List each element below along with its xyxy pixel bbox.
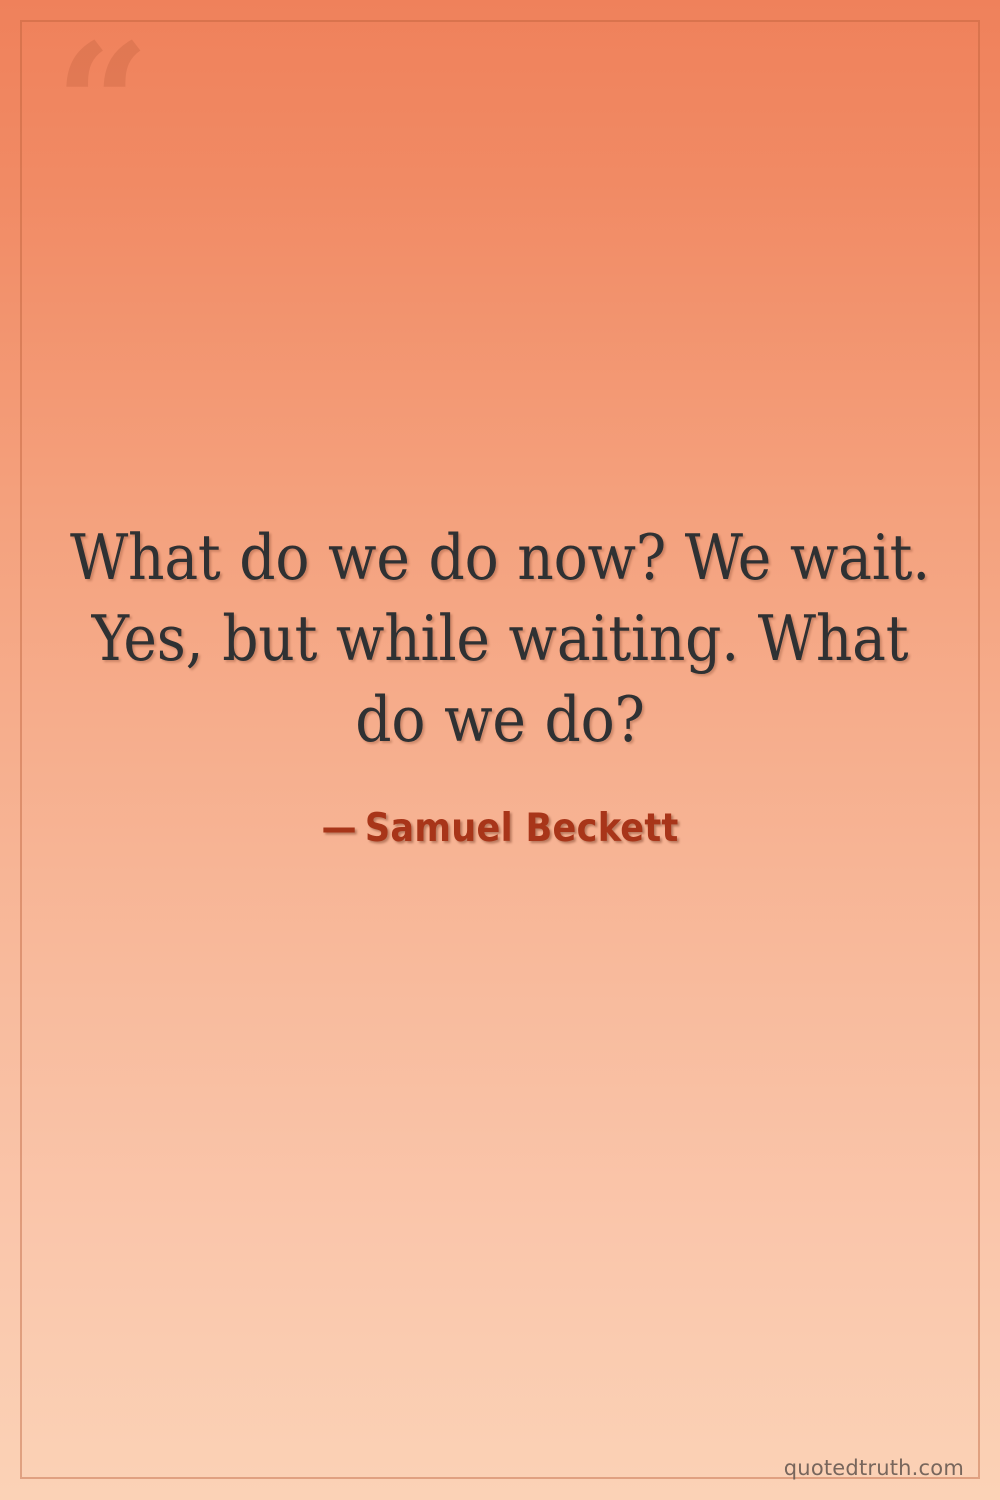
site-watermark: quotedtruth.com: [784, 1456, 964, 1480]
quote-card: “ What do we do now? We wait. Yes, but w…: [0, 0, 1000, 1500]
quote-content-block: What do we do now? We wait. Yes, but whi…: [0, 0, 1000, 1434]
quote-text: What do we do now? We wait. Yes, but whi…: [60, 517, 940, 761]
author-name: Samuel Beckett: [365, 806, 679, 851]
author-em-dash: —: [321, 806, 356, 851]
quote-author: —Samuel Beckett: [321, 806, 678, 851]
